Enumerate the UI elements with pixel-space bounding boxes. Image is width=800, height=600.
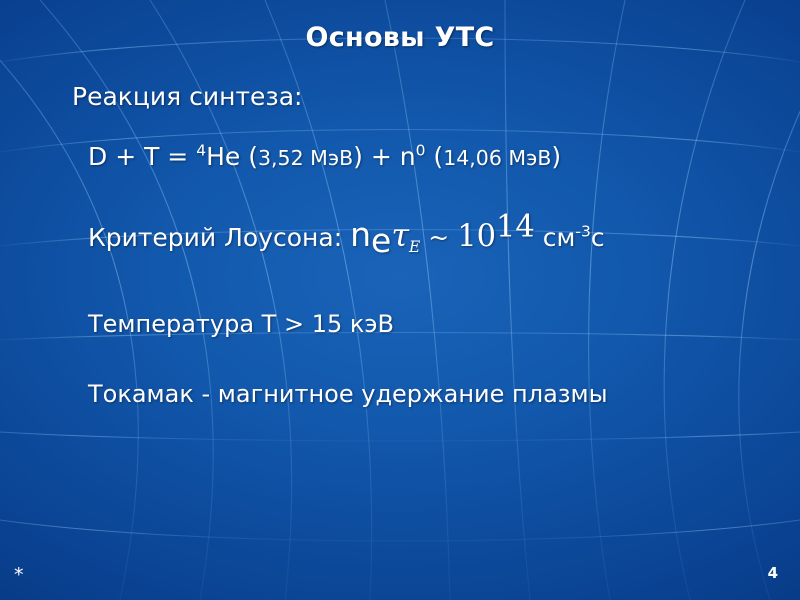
lawson-exponent: 14 <box>496 210 535 245</box>
formula-he-superscript: 4 <box>196 142 206 160</box>
lawson-density-subscript: e <box>371 221 391 260</box>
tokamak-line: Токамак - магнитное удержание плазмы <box>88 380 608 408</box>
lawson-base: 10 <box>457 219 496 254</box>
lawson-density-n: n <box>350 215 371 254</box>
reaction-label: Реакция синтеза: <box>72 82 302 111</box>
formula-energy-1: 3,52 МэВ <box>258 146 353 170</box>
temperature-line: Температура T > 15 кэВ <box>88 310 394 338</box>
footer-placeholder: * <box>14 564 24 586</box>
lawson-tau: τ <box>391 216 409 254</box>
formula-he: He <box>206 142 248 171</box>
page-number: 4 <box>768 564 778 582</box>
lawson-units-superscript: -3 <box>575 223 590 241</box>
lawson-tilde: ~ <box>420 223 457 252</box>
lawson-label: Критерий Лоусона: <box>88 223 350 252</box>
formula-neutron: + n <box>363 142 416 171</box>
formula-energy-2: 14,06 МэВ <box>443 146 551 170</box>
formula-left: D + T = <box>88 142 196 171</box>
slide-canvas: Основы УТС Реакция синтеза: D + T = 4He … <box>0 0 800 600</box>
lawson-criterion: Критерий Лоусона: neτE ~ 1014 см-3с <box>88 215 605 254</box>
formula-paren-open-1: ( <box>248 142 258 171</box>
fusion-reaction-formula: D + T = 4He (3,52 МэВ) + n0 (14,06 МэВ) <box>88 142 561 171</box>
formula-neutron-superscript: 0 <box>416 142 426 160</box>
lawson-units-tail: с <box>591 223 605 252</box>
lawson-units: см <box>535 223 576 252</box>
slide-title: Основы УТС <box>0 22 800 53</box>
formula-paren-close-1: ) <box>353 142 363 171</box>
formula-paren-close-2: ) <box>551 142 561 171</box>
formula-paren-open-2: ( <box>425 142 443 171</box>
lawson-tau-subscript: E <box>409 238 420 256</box>
